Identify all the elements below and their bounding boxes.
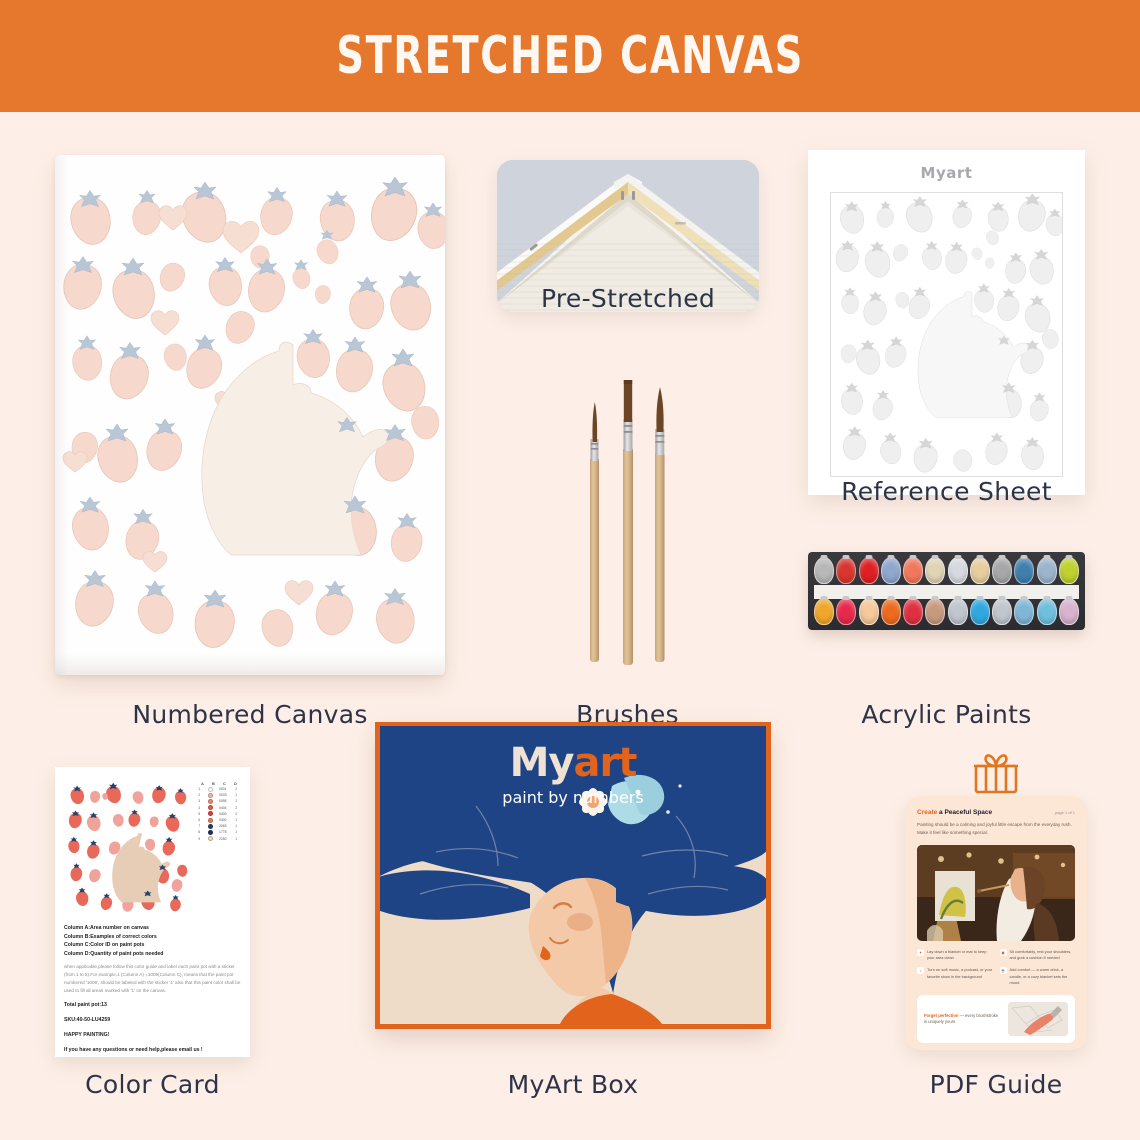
product-grid: Numbered Canvas	[0, 112, 1140, 1140]
legend-quantity: 1	[233, 824, 240, 828]
legend-color-id: 0400	[215, 812, 230, 816]
legend-area-number: 4	[198, 806, 205, 810]
myart-box-item[interactable]: Myart paint by numbers	[375, 722, 771, 1077]
pdf-page-label: page 1 of 1	[1055, 810, 1075, 815]
candle-icon: ✦	[917, 949, 924, 956]
legend-swatch	[208, 787, 213, 792]
canvas-board	[55, 155, 445, 675]
legend-color-id: 0003	[215, 793, 230, 797]
pdf-heading: Create a Peaceful Space	[917, 809, 992, 816]
logo-my-text: My	[510, 740, 574, 786]
legend-row: 922501	[197, 836, 241, 842]
acrylic-paints-label: Acrylic Paints	[808, 700, 1085, 729]
legend-area-number: 2	[198, 793, 205, 797]
color-card-label: Color Card	[55, 1070, 250, 1099]
music-icon: ♪	[917, 967, 924, 974]
pdf-note-text: Forget perfection — every brushstroke is…	[924, 1013, 1002, 1026]
paint-pot	[903, 598, 923, 625]
paint-pot	[836, 598, 856, 625]
paint-pot	[1037, 557, 1057, 584]
legend-area-number: 6	[198, 818, 205, 822]
column-def-a: Column A:Area number on canvas	[64, 924, 241, 933]
pdf-note-accent: Forget perfection	[924, 1013, 958, 1018]
pre-stretched-label: Pre-Stretched	[497, 284, 759, 313]
legend-swatch	[208, 836, 213, 841]
legend-swatch	[208, 830, 213, 835]
legend-header-c: C	[223, 781, 226, 786]
paint-pot	[992, 557, 1012, 584]
paint-pot	[814, 598, 834, 625]
pdf-heading-accent: Create	[917, 809, 937, 816]
color-card-paper: A B C D 10001220003130055140404250400260…	[55, 767, 250, 1057]
brushes-illustration	[545, 347, 710, 672]
pdf-subtitle: Painting should be a calming and joyful …	[917, 821, 1075, 838]
pdf-tip: ♪ Turn on soft music, a podcast, or your…	[917, 967, 993, 980]
legend-quantity: 1	[233, 830, 240, 834]
reference-sheet-label: Reference Sheet	[808, 477, 1085, 506]
brush-small-round	[590, 402, 599, 662]
myart-box-front: Myart paint by numbers	[380, 726, 766, 1024]
myart-box-logo: Myart paint by numbers	[380, 740, 766, 807]
paint-pot	[836, 557, 856, 584]
cushion-icon: ▣	[1000, 949, 1007, 956]
legend-quantity: 1	[233, 799, 240, 803]
paint-pot	[925, 598, 945, 625]
color-card-text: Column A:Area number on canvas Column B:…	[64, 924, 241, 1055]
legend-quantity: 1	[233, 793, 240, 797]
pdf-guide-item[interactable]: Create a Peaceful Space page 1 of 1 Pain…	[905, 752, 1087, 1082]
paint-pot	[992, 598, 1012, 625]
legend-quantity: 2	[233, 812, 240, 816]
color-legend-table: A B C D 10001220003130055140404250400260…	[197, 777, 241, 917]
pdf-tip-text: Lay down a blanket or mat to keep your a…	[927, 949, 993, 962]
paint-label-strip	[814, 585, 1079, 599]
color-card-artwork	[64, 777, 192, 917]
paint-pot	[948, 598, 968, 625]
pdf-guide-page: Create a Peaceful Space page 1 of 1 Pain…	[905, 796, 1087, 1050]
column-def-c: Column C:Color ID on paint pots	[64, 941, 241, 950]
pdf-tip: ▣ Sit comfortably, rest your shoulders, …	[1000, 949, 1076, 962]
legend-area-number: 1	[198, 787, 205, 791]
color-artwork-svg	[64, 777, 192, 917]
paint-pot	[1014, 557, 1034, 584]
legend-swatch	[208, 824, 213, 829]
acrylic-paints-item[interactable]	[808, 552, 1085, 677]
legend-color-id: 2250	[215, 837, 230, 841]
total-paint-pots: Total paint pot:13	[64, 1001, 241, 1010]
pdf-tip: ✦ Lay down a blanket or mat to keep your…	[917, 949, 993, 962]
paint-pot	[881, 598, 901, 625]
pdf-tip-text: Add comfort — a warm drink, a candle, or…	[1010, 967, 1076, 986]
paint-pot	[814, 557, 834, 584]
legend-area-number: 3	[198, 799, 205, 803]
pdf-heading-rest: a Peaceful Space	[937, 809, 992, 816]
legend-area-number: 9	[198, 837, 205, 841]
paint-pot	[903, 557, 923, 584]
legend-header-d: D	[234, 781, 237, 786]
legend-quantity: 1	[233, 837, 240, 841]
legend-swatch	[208, 793, 213, 798]
legend-body: 1000122000313005514040425040026040017206…	[197, 786, 241, 842]
paint-pot	[925, 557, 945, 584]
logo-art-text: art	[574, 740, 637, 786]
reference-sheet-item[interactable]: Myart	[808, 150, 1085, 610]
paint-pot-row-top	[814, 557, 1079, 584]
legend-quantity: 1	[233, 818, 240, 822]
legend-color-id: 1778	[215, 830, 230, 834]
reference-artwork	[831, 193, 1062, 476]
legend-area-number: 5	[198, 812, 205, 816]
paint-pot	[970, 598, 990, 625]
happy-painting-text: HAPPY PAINTING!	[64, 1031, 241, 1040]
column-def-d: Column D:Quantity of paint pots needed	[64, 950, 241, 959]
paint-pot	[970, 557, 990, 584]
legend-quantity: 2	[233, 806, 240, 810]
color-card-note: when applicable,please follow this color…	[64, 963, 241, 995]
legend-color-id: 0001	[215, 787, 230, 791]
pdf-guide-label: PDF Guide	[905, 1070, 1087, 1099]
numbered-canvas-item[interactable]	[55, 155, 445, 675]
paint-pot	[948, 557, 968, 584]
legend-color-id: 0055	[215, 799, 230, 803]
legend-color-id: 0404	[215, 806, 230, 810]
sku-value: SKU:40-50-LU4259	[64, 1016, 241, 1025]
legend-swatch	[208, 811, 213, 816]
paint-pot	[1037, 598, 1057, 625]
paint-pot	[1014, 598, 1034, 625]
paint-pot	[1059, 557, 1079, 584]
paint-pot	[859, 598, 879, 625]
legend-area-number: 7	[198, 824, 205, 828]
paint-pot	[1059, 598, 1079, 625]
reference-sheet-logo: Myart	[808, 164, 1085, 182]
reference-sheet-paper: Myart	[808, 150, 1085, 495]
paint-tray	[808, 552, 1085, 630]
page-header: STRETCHED CANVAS	[0, 0, 1140, 112]
legend-header-a: A	[201, 781, 204, 786]
pdf-note: Forget perfection — every brushstroke is…	[917, 995, 1075, 1043]
pdf-photo	[917, 845, 1075, 941]
pdf-tip-text: Sit comfortably, rest your shoulders, an…	[1010, 949, 1076, 962]
legend-color-id: 0400	[215, 818, 230, 822]
legend-quantity: 2	[233, 787, 240, 791]
brush-medium-round	[655, 387, 665, 662]
box-tagline: paint by numbers	[380, 788, 766, 807]
reference-sheet-frame	[830, 192, 1063, 477]
page-title: STRETCHED CANVAS	[336, 26, 804, 86]
brush-flat	[623, 380, 633, 665]
pdf-tip: ☕ Add comfort — a warm drink, a candle, …	[1000, 967, 1076, 986]
myart-box-label: MyArt Box	[375, 1070, 771, 1099]
legend-color-id: 2063	[215, 824, 230, 828]
contact-text: If you have any questions or need help,p…	[64, 1046, 241, 1055]
paint-pot-row-bottom	[814, 598, 1079, 625]
legend-swatch	[208, 805, 213, 810]
brushes-item[interactable]	[545, 347, 710, 672]
legend-swatch	[208, 818, 213, 823]
paint-pot	[881, 557, 901, 584]
myart-box-outer: Myart paint by numbers	[375, 722, 771, 1029]
gift-icon	[970, 752, 1022, 799]
drink-icon: ☕	[1000, 967, 1007, 974]
legend-area-number: 8	[198, 830, 205, 834]
pdf-note-image	[1008, 1002, 1068, 1036]
color-card-item[interactable]: A B C D 10001220003130055140404250400260…	[55, 767, 250, 1087]
column-def-b: Column B:Examples of correct colors	[64, 933, 241, 942]
pdf-tip-text: Turn on soft music, a podcast, or your f…	[927, 967, 993, 980]
canvas-artwork	[55, 155, 445, 675]
paint-pot	[859, 557, 879, 584]
legend-swatch	[208, 799, 213, 804]
pdf-tips: ✦ Lay down a blanket or mat to keep your…	[917, 949, 1075, 992]
legend-header-b: B	[212, 781, 215, 786]
